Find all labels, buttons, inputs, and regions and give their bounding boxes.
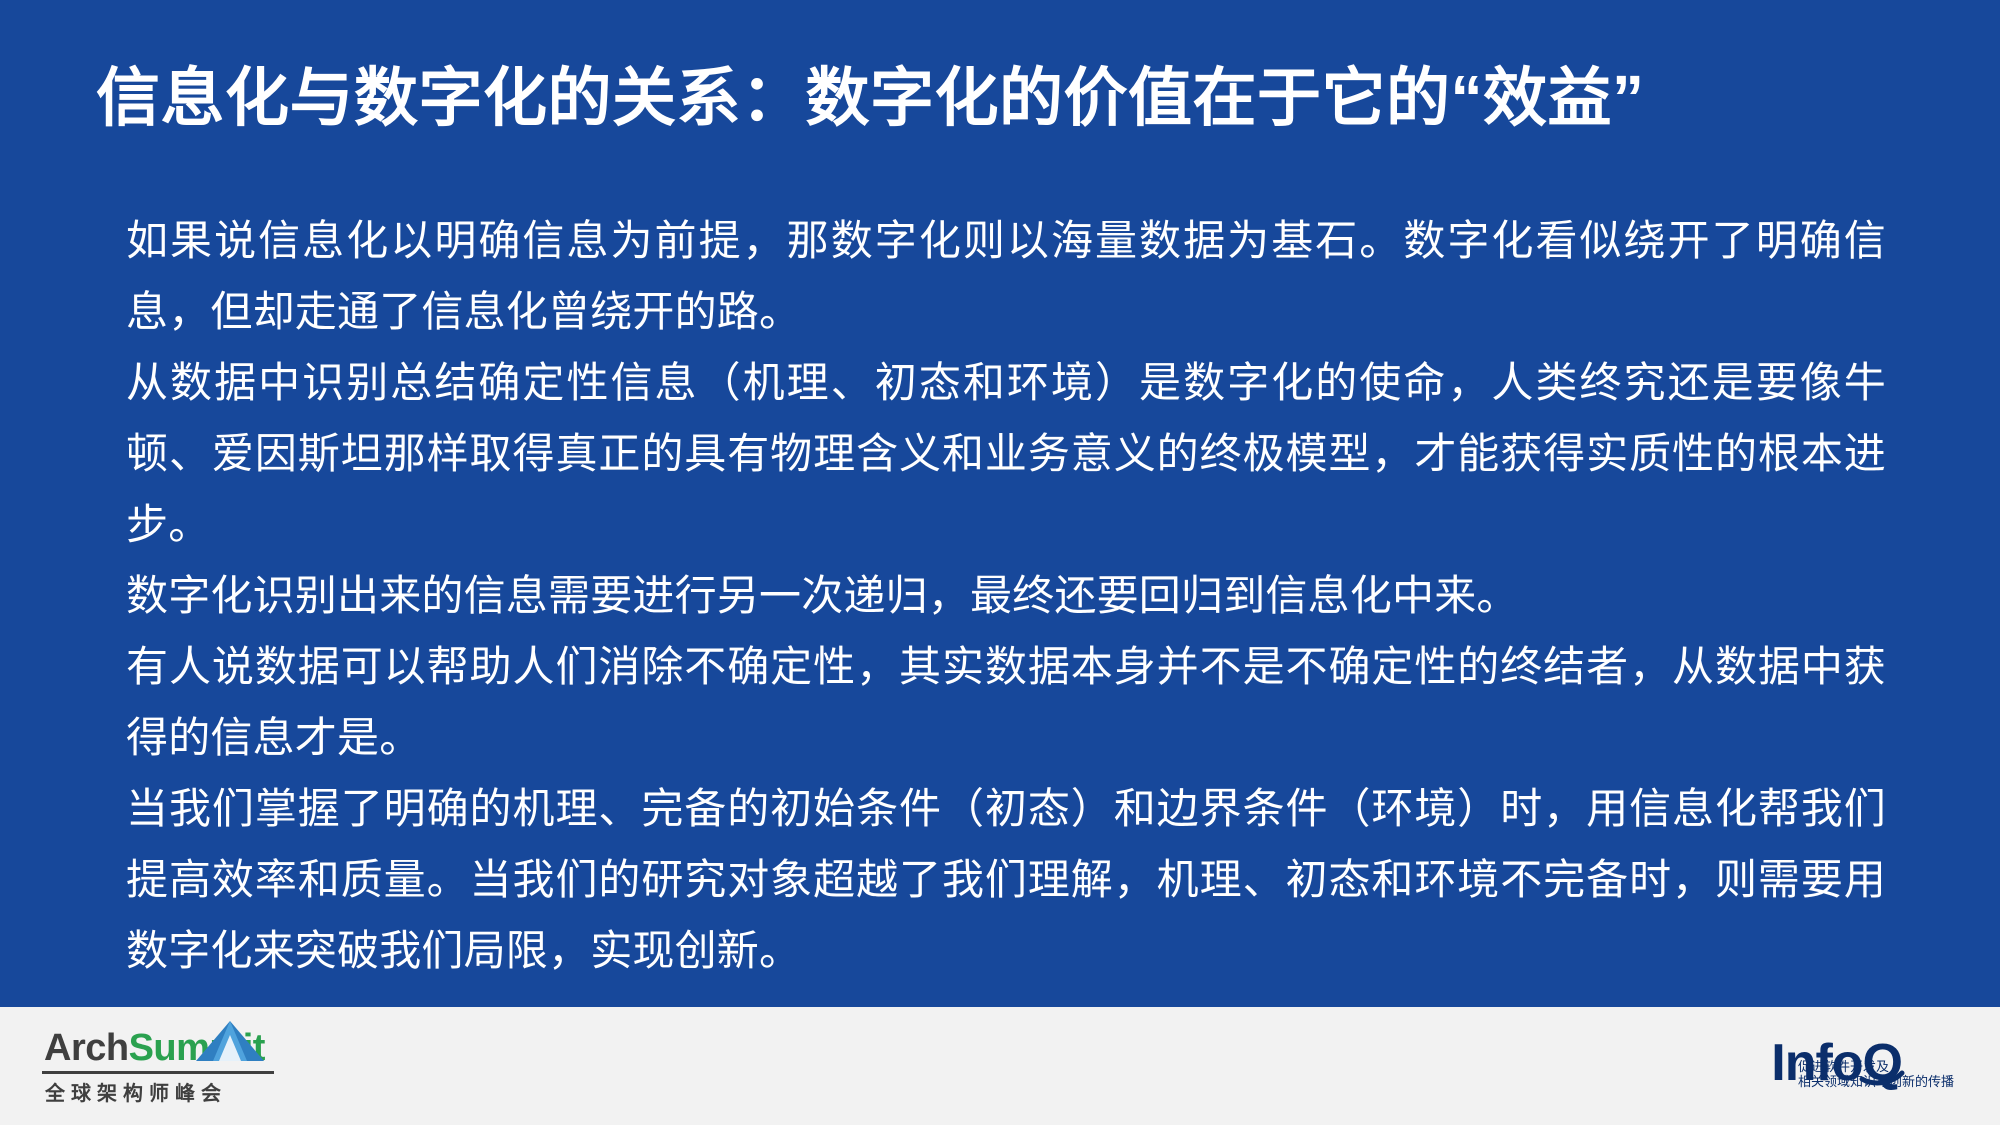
archsummit-logo: ArchSummit 全球架构师峰会 [42, 1021, 342, 1113]
body-paragraph-1: 如果说信息化以明确信息为前提，那数字化则以海量数据为基石。数字化看似绕开了明确信… [126, 205, 1886, 347]
archsummit-word-arch: Arch [44, 1027, 129, 1069]
infoq-subtitle-line-1: 促进软件开发及 [1798, 1059, 1954, 1074]
infoq-subtitle-line-2: 相关领域知识与创新的传播 [1798, 1074, 1954, 1089]
mountain-icon [194, 1019, 266, 1063]
infoq-subtitle: 促进软件开发及 相关领域知识与创新的传播 [1798, 1059, 1954, 1089]
presentation-slide: 信息化与数字化的关系：数字化的价值在于它的“效益” 如果说信息化以明确信息为前提… [0, 0, 2000, 1125]
archsummit-subtitle: 全球架构师峰会 [45, 1077, 227, 1106]
slide-footer: ArchSummit 全球架构师峰会 InfoQ 促进软件开发及 相关领域知识与… [0, 1007, 2000, 1125]
body-paragraph-3: 数字化识别出来的信息需要进行另一次递归，最终还要回归到信息化中来。 [126, 560, 1886, 631]
body-paragraph-4: 有人说数据可以帮助人们消除不确定性，其实数据本身并不是不确定性的终结者，从数据中… [126, 631, 1886, 773]
infoq-logo: InfoQ 促进软件开发及 相关领域知识与创新的传播 [1624, 1033, 1954, 1097]
slide-title: 信息化与数字化的关系：数字化的价值在于它的“效益” [96, 58, 1926, 138]
slide-body: 如果说信息化以明确信息为前提，那数字化则以海量数据为基石。数字化看似绕开了明确信… [126, 205, 1886, 986]
body-paragraph-2: 从数据中识别总结确定性信息（机理、初态和环境）是数字化的使命，人类终究还是要像牛… [126, 347, 1886, 560]
archsummit-divider [42, 1071, 274, 1074]
body-paragraph-5: 当我们掌握了明确的机理、完备的初始条件（初态）和边界条件（环境）时，用信息化帮我… [126, 773, 1886, 986]
